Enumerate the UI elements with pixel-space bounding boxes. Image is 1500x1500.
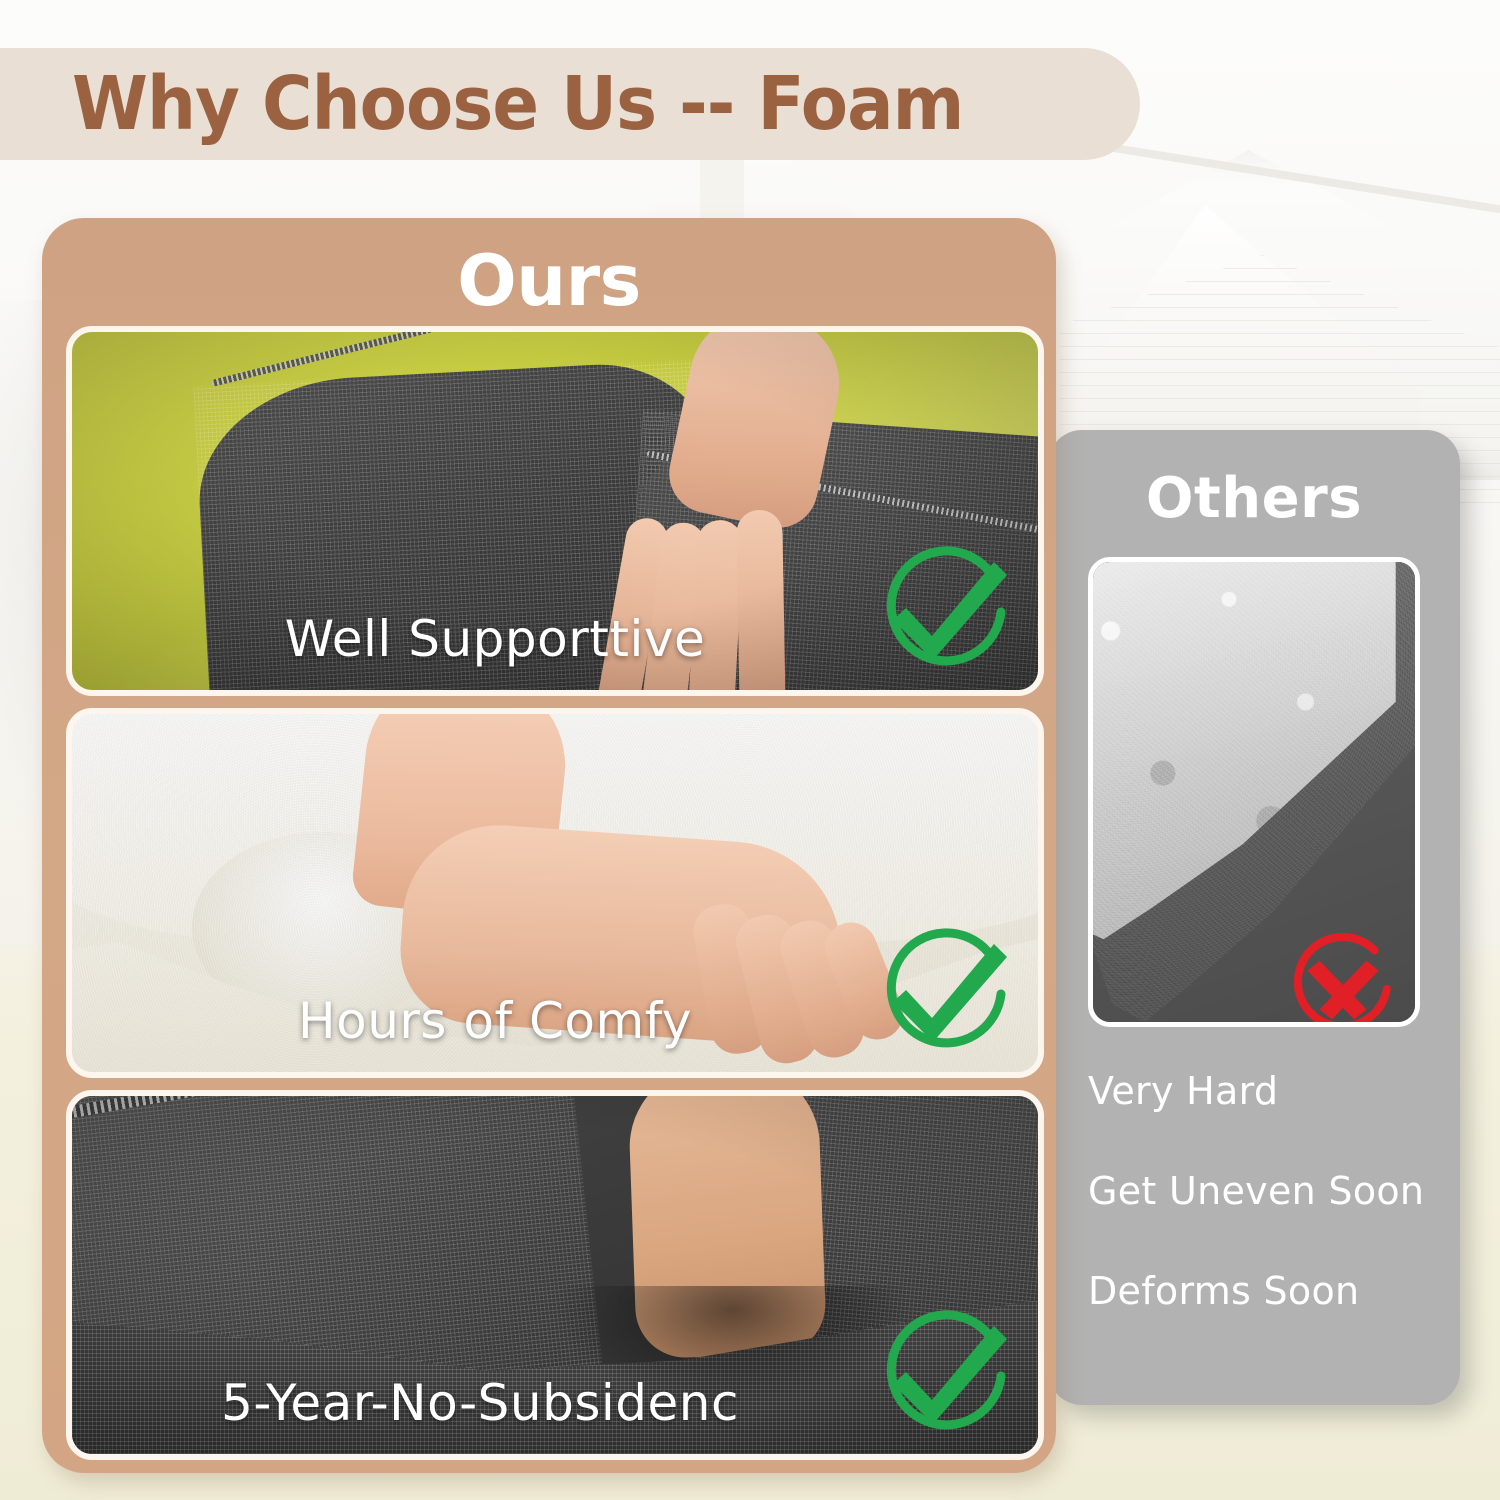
- page-title: Why Choose Us -- Foam: [72, 61, 963, 147]
- title-banner: Why Choose Us -- Foam: [0, 48, 1140, 160]
- ours-card-list: Well Supporttive Hours of Comfy: [66, 326, 1032, 1472]
- others-panel: Others Very Hard Get Uneven Soon Deforms…: [1048, 430, 1460, 1405]
- others-drawback-item: Very Hard: [1088, 1069, 1460, 1113]
- red-x-circle-icon: [1281, 926, 1403, 1027]
- others-title: Others: [1048, 466, 1460, 531]
- others-drawback-item: Deforms Soon: [1088, 1269, 1460, 1313]
- infographic-canvas: Why Choose Us -- Foam Others Very Hard G…: [0, 0, 1500, 1500]
- ours-title: Ours: [42, 240, 1056, 322]
- others-photo-card: [1088, 557, 1420, 1027]
- ours-panel: Ours Well Supporttive: [42, 218, 1056, 1473]
- green-check-circle-icon: [870, 916, 1020, 1066]
- green-check-circle-icon: [870, 1298, 1020, 1448]
- ours-card-five-year-no-subsidence: 5-Year-No-Subsidenc: [66, 1090, 1044, 1460]
- ours-card-well-supportive: Well Supporttive: [66, 326, 1044, 696]
- others-drawback-list: Very Hard Get Uneven Soon Deforms Soon: [1088, 1069, 1460, 1313]
- others-drawback-item: Get Uneven Soon: [1088, 1169, 1460, 1213]
- ours-card-hours-of-comfy: Hours of Comfy: [66, 708, 1044, 1078]
- green-check-circle-icon: [870, 534, 1020, 684]
